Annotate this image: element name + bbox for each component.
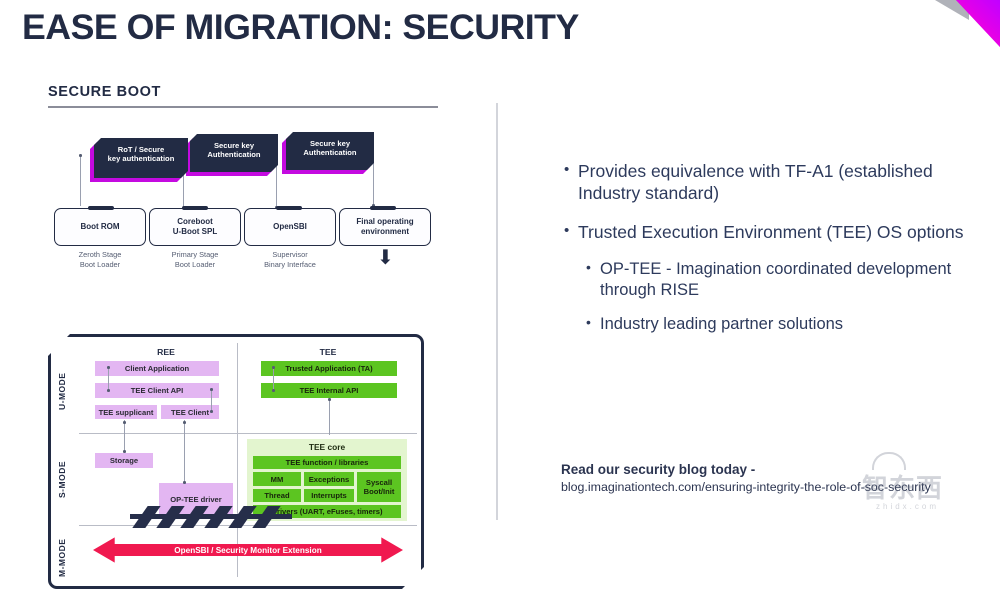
bullet-list: Provides equivalence with TF-A1 (establi… xyxy=(562,160,992,349)
stage-box-coreboot: Coreboot U-Boot SPL xyxy=(149,208,241,246)
ree-conn-4 xyxy=(184,420,185,482)
blog-url-link[interactable]: blog.imaginationtech.com/ensuring-integr… xyxy=(561,480,1000,494)
ree-box-client-application: Client Application xyxy=(95,361,219,376)
tee-box-trusted-application: Trusted Application (TA) xyxy=(261,361,397,376)
secure-boot-stage-row: RoT / Secure key authentication Secure k… xyxy=(48,120,468,270)
auth-box-1-line2: key authentication xyxy=(108,154,175,163)
tee-conn-2 xyxy=(329,399,330,435)
auth-box-1: RoT / Secure key authentication xyxy=(94,138,188,178)
stage-1-cap2: Boot Loader xyxy=(80,260,120,269)
ree-conn-3 xyxy=(124,420,125,452)
auth-box-2-line1: Secure key xyxy=(214,141,254,150)
ree-box-tee-client-api: TEE Client API xyxy=(95,383,219,398)
stage-tab-2 xyxy=(182,206,208,210)
secure-boot-diagram: SECURE BOOT RoT / Secure key authenticat… xyxy=(48,84,468,524)
down-arrow-icon: ⬇ xyxy=(377,248,394,268)
tee-core-exceptions: Exceptions xyxy=(304,472,354,486)
stage-2-line1: Coreboot xyxy=(177,217,213,226)
watermark-subtext: zhidx.com xyxy=(876,502,939,511)
stage-caption-3: Supervisor Binary Interface xyxy=(244,250,336,270)
tee-core-syscall: SyscallBoot/Init xyxy=(357,472,401,502)
ree-dot-4 xyxy=(210,410,213,413)
column-head-ree: REE xyxy=(111,347,221,357)
tee-dot-2 xyxy=(272,389,275,392)
bullet-item-2: Trusted Execution Environment (TEE) OS o… xyxy=(562,221,992,243)
stage-2-line2: U-Boot SPL xyxy=(173,227,217,236)
tee-conn-1 xyxy=(273,368,274,390)
page-title: EASE OF MIGRATION: SECURITY xyxy=(22,8,579,48)
corner-magenta-triangle xyxy=(956,0,1000,47)
bullet-item-1: Provides equivalence with TF-A1 (establi… xyxy=(562,160,992,205)
mode-label-m: M-MODE xyxy=(57,533,67,583)
mode-label-s: S-MODE xyxy=(57,440,67,520)
corner-decoration xyxy=(930,0,1000,56)
ree-dot-8 xyxy=(183,481,186,484)
mmode-arrow: OpenSBI / Security Monitor Extension xyxy=(93,535,403,565)
stage-1-line1: Boot ROM xyxy=(80,222,119,231)
bullet-item-3: OP-TEE - Imagination coordinated develop… xyxy=(584,259,992,301)
heading-divider xyxy=(48,106,438,108)
tee-core-thread: Thread xyxy=(253,489,301,502)
stage-tab-3 xyxy=(276,206,302,210)
stage-tab-1 xyxy=(88,206,114,210)
ree-conn-1 xyxy=(108,368,109,390)
stage-3-cap2: Binary Interface xyxy=(264,260,316,269)
diagram-heading: SECURE BOOT xyxy=(48,84,468,100)
connector-dot-1 xyxy=(79,154,82,157)
stage-box-opensbi: OpenSBI xyxy=(244,208,336,246)
blog-callout: Read our security blog today - blog.imag… xyxy=(561,462,1000,494)
ree-dot-1 xyxy=(107,366,110,369)
stage-box-final-os: Final operating environment xyxy=(339,208,431,246)
mode-divider-u-s xyxy=(79,433,417,434)
auth-box-3-line1: Secure key xyxy=(310,139,350,148)
auth-box-3-line2: Authentication xyxy=(303,148,356,157)
column-divider xyxy=(496,103,498,520)
ree-box-tee-supplicant: TEE supplicant xyxy=(95,405,157,419)
ree-dot-2 xyxy=(107,389,110,392)
ree-box-storage: Storage xyxy=(95,453,153,468)
auth-box-1-line1: RoT / Secure xyxy=(118,145,164,154)
stage-3-line1: OpenSBI xyxy=(273,222,307,231)
stage-3-cap1: Supervisor xyxy=(272,250,307,259)
architecture-panel: U-MODE S-MODE M-MODE REE TEE Client Appl… xyxy=(48,334,424,589)
auth-box-3: Secure key Authentication xyxy=(286,132,374,170)
column-head-tee: TEE xyxy=(273,347,383,357)
stage-caption-2: Primary Stage Boot Loader xyxy=(149,250,241,270)
tee-core-mm: MM xyxy=(253,472,301,486)
ree-dot-3 xyxy=(210,388,213,391)
tee-dot-1 xyxy=(272,366,275,369)
bottom-stripes-decoration xyxy=(130,506,290,528)
ree-dot-7 xyxy=(123,450,126,453)
bullet-item-4: Industry leading partner solutions xyxy=(584,314,992,335)
tee-core-interrupts: Interrupts xyxy=(304,489,354,502)
ree-dot-6 xyxy=(183,421,186,424)
ree-tee-divider xyxy=(237,343,238,525)
ree-dot-5 xyxy=(123,421,126,424)
stage-1-cap1: Zeroth Stage xyxy=(79,250,122,259)
mode-label-u: U-MODE xyxy=(57,353,67,429)
stage-2-cap1: Primary Stage xyxy=(172,250,219,259)
stage-caption-1: Zeroth Stage Boot Loader xyxy=(54,250,146,270)
stage-tab-4 xyxy=(370,206,396,210)
auth-box-2: Secure key Authentication xyxy=(190,134,278,172)
stage-4-line1: Final operating xyxy=(356,217,413,226)
stage-4-line2: environment xyxy=(361,227,409,236)
tee-dot-3 xyxy=(328,398,331,401)
connector-1 xyxy=(80,156,81,206)
tee-box-tee-internal-api: TEE Internal API xyxy=(261,383,397,398)
stage-2-cap2: Boot Loader xyxy=(175,260,215,269)
ree-conn-2 xyxy=(211,389,212,411)
tee-core-title: TEE core xyxy=(247,442,407,452)
stage-box-boot-rom: Boot ROM xyxy=(54,208,146,246)
tee-core-functions: TEE function / libraries xyxy=(253,456,401,469)
auth-box-2-line2: Authentication xyxy=(207,150,260,159)
blog-heading: Read our security blog today - xyxy=(561,462,1000,477)
